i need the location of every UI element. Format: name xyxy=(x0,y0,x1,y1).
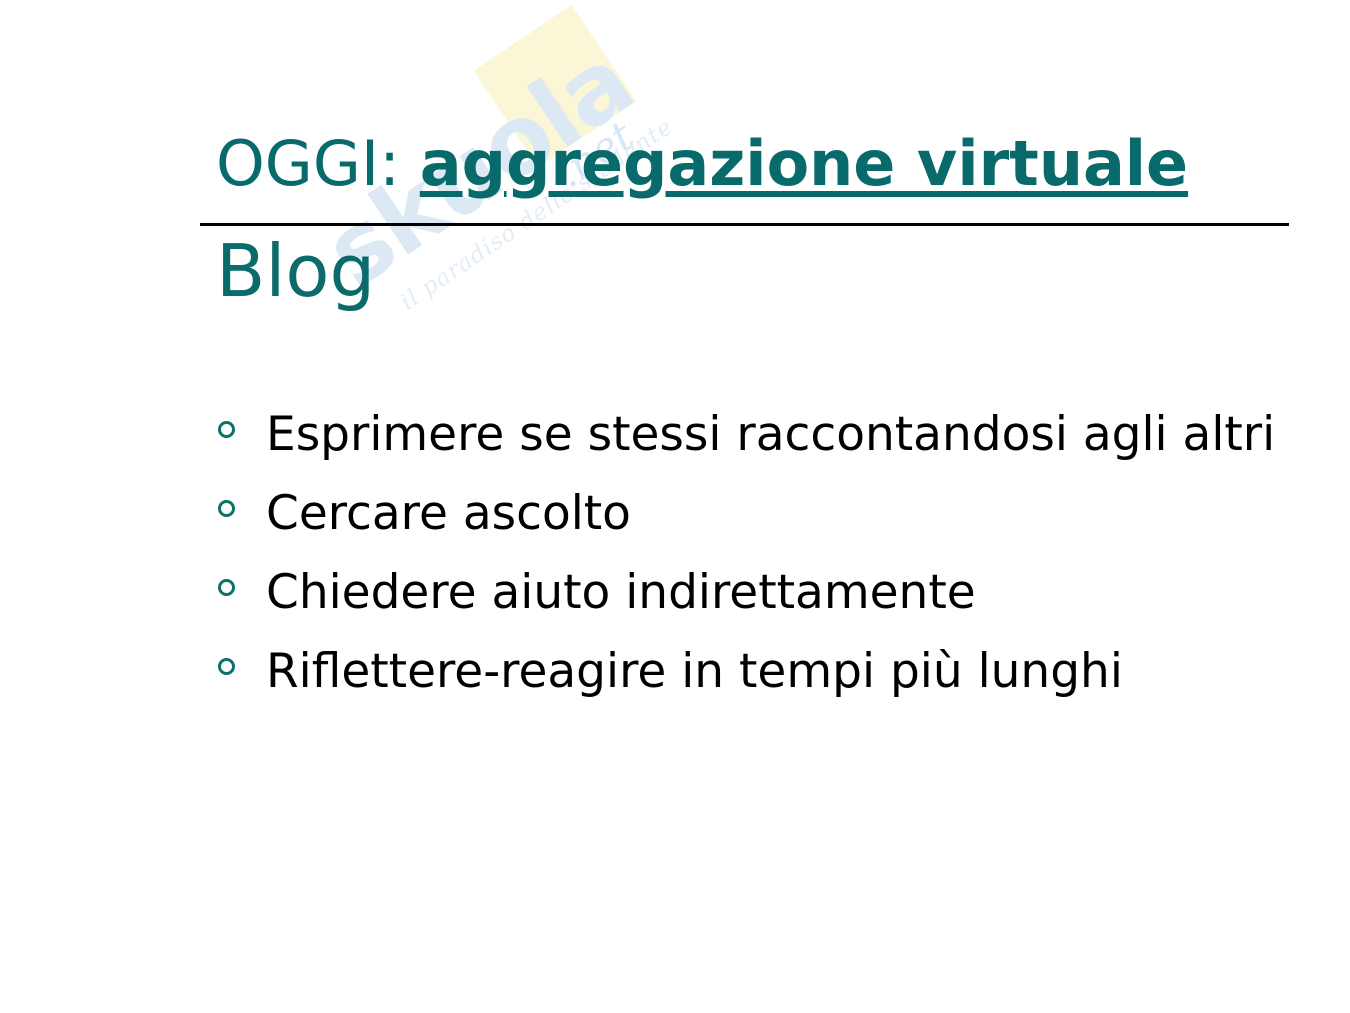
list-item-label: Riflettere-reagire in tempi più lunghi xyxy=(266,641,1276,703)
list-item: Chiedere aiuto indirettamente xyxy=(216,562,1276,624)
list-item-label: Cercare ascolto xyxy=(266,483,1276,545)
list-item: Esprimere se stessi raccontandosi agli a… xyxy=(216,404,1276,466)
circle-bullet-icon xyxy=(218,658,235,675)
title-lead: OGGI: xyxy=(216,127,420,200)
circle-bullet-icon xyxy=(218,421,235,438)
title-block: OGGI: aggregazione virtuale xyxy=(216,131,1296,196)
title-divider xyxy=(200,223,1289,226)
slide-subtitle: Blog xyxy=(216,232,375,311)
presentation-slide: skuola .net il paradiso dello studente O… xyxy=(0,0,1350,1013)
page-title: OGGI: aggregazione virtuale xyxy=(216,131,1296,196)
title-emphasis: aggregazione virtuale xyxy=(420,127,1188,200)
list-item: Riflettere-reagire in tempi più lunghi xyxy=(216,641,1276,703)
circle-bullet-icon xyxy=(218,579,235,596)
circle-bullet-icon xyxy=(218,500,235,517)
list-item: Cercare ascolto xyxy=(216,483,1276,545)
bullet-list: Esprimere se stessi raccontandosi agli a… xyxy=(216,404,1276,703)
list-item-label: Esprimere se stessi raccontandosi agli a… xyxy=(266,404,1276,466)
list-item-label: Chiedere aiuto indirettamente xyxy=(266,562,1276,624)
